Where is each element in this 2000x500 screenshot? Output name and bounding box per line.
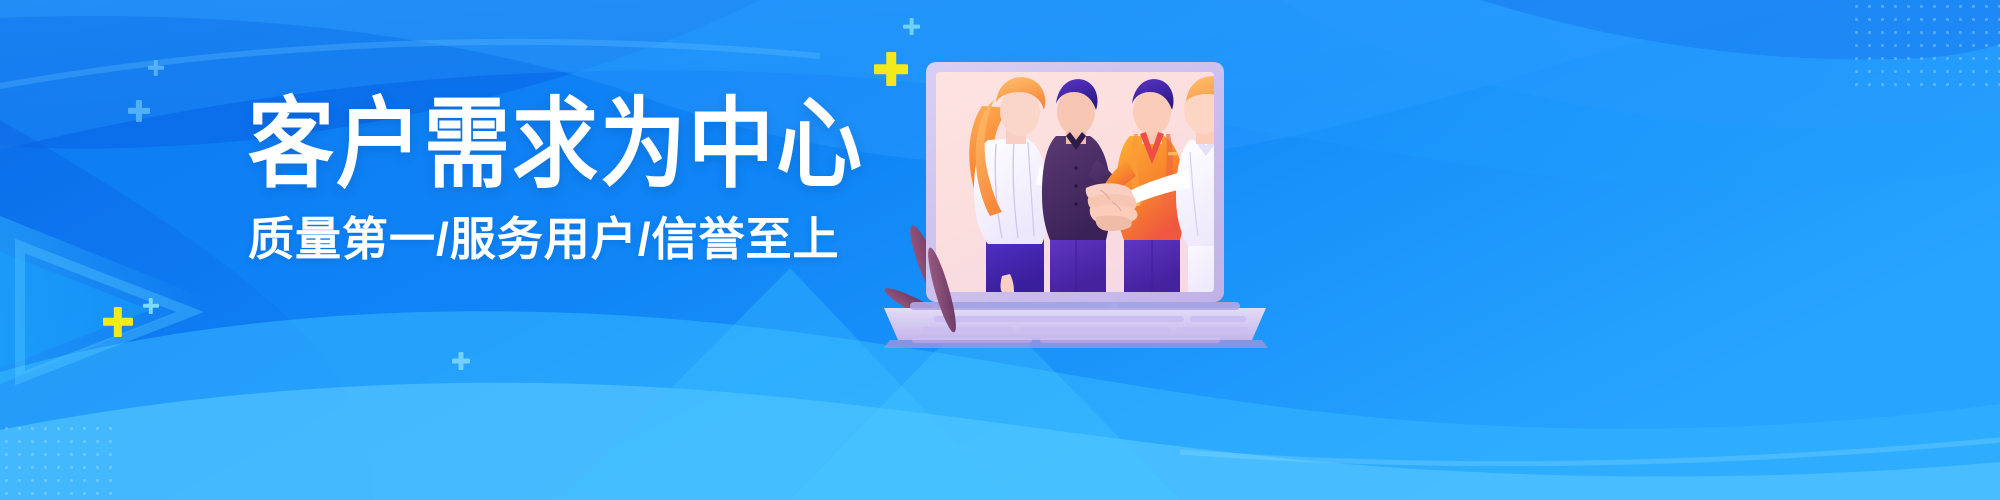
plus-cyan-left-mid-icon [128, 100, 150, 122]
keyboard-keys [912, 316, 1248, 343]
dot-grid-bottom-left-icon [0, 422, 118, 500]
page-title: 客户需求为中心 [248, 96, 948, 194]
team-laptop-illustration [890, 40, 1320, 360]
plus-cyan-left-upper-icon [148, 60, 164, 76]
plus-cyan-bottom-icon [143, 298, 159, 314]
page-subtitle: 质量第一/服务用户/信誉至上 [248, 216, 948, 262]
laptop-keyboard-base [884, 308, 1266, 340]
plus-cyan-lower-left-icon [452, 352, 470, 370]
plus-yellow-bottom-icon [103, 307, 133, 337]
dot-grid-top-right-icon [1850, 0, 2000, 95]
team-laptop-svg [890, 40, 1320, 360]
plus-cyan-top-small-icon [903, 18, 920, 35]
promo-banner: 客户需求为中心 质量第一/服务用户/信誉至上 [0, 0, 2000, 500]
headline-block: 客户需求为中心 质量第一/服务用户/信誉至上 [248, 96, 948, 262]
